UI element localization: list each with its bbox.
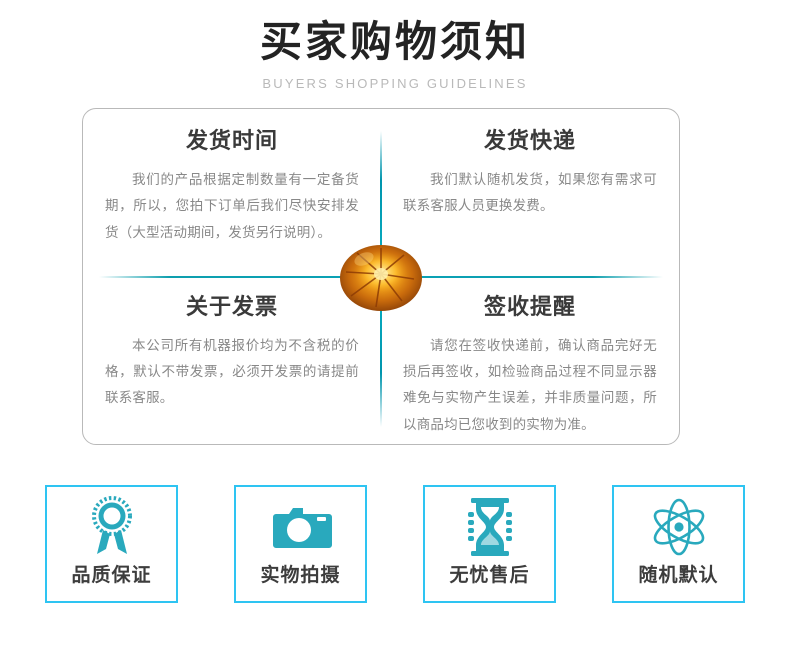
amber-gem-icon	[338, 241, 424, 313]
feature-label: 实物拍摄	[260, 560, 340, 587]
feature-box-quality-guarantee[interactable]: 品质保证	[45, 485, 178, 603]
feature-box-worry-free-service[interactable]: 无忧售后	[423, 485, 556, 603]
page-header: 买家购物须知 BUYERS SHOPPING GUIDELINES	[0, 0, 790, 91]
quadrant-title: 签收提醒	[403, 289, 657, 321]
quadrant-body: 我们的产品根据定制数量有一定备货期，所以，您拍下订单后我们尽快安排发货（大型活动…	[105, 167, 359, 246]
quadrant-body: 我们默认随机发货，如果您有需求可联系客服人员更换发费。	[403, 167, 657, 220]
horizontal-divider-right	[413, 276, 663, 278]
feature-box-row: 品质保证 实物拍摄	[45, 485, 745, 603]
feature-label: 品质保证	[71, 560, 151, 587]
quadrant-title: 发货快递	[403, 123, 657, 155]
horizontal-divider-left	[99, 276, 349, 278]
feature-label: 随机默认	[638, 560, 718, 587]
quadrant-shipping-time: 发货时间 我们的产品根据定制数量有一定备货期，所以，您拍下订单后我们尽快安排发货…	[83, 109, 381, 275]
feature-box-random-default[interactable]: 随机默认	[612, 485, 745, 603]
camera-icon	[270, 496, 332, 558]
feature-box-real-photos[interactable]: 实物拍摄	[234, 485, 367, 603]
award-ribbon-icon	[84, 496, 140, 558]
quadrant-title: 关于发票	[105, 289, 359, 321]
page-title: 买家购物须知	[0, 18, 790, 66]
quadrant-receipt-reminder: 签收提醒 请您在签收快递前，确认商品完好无损后再签收，如检验商品过程不同显示器难…	[381, 275, 679, 444]
quadrant-about-invoice: 关于发票 本公司所有机器报价均为不含税的价格，默认不带发票，必须开发票的请提前联…	[83, 275, 381, 444]
page-subtitle: BUYERS SHOPPING GUIDELINES	[0, 76, 790, 91]
feature-label: 无忧售后	[449, 560, 529, 587]
guidelines-panel: 发货时间 我们的产品根据定制数量有一定备货期，所以，您拍下订单后我们尽快安排发货…	[82, 108, 680, 445]
atom-icon	[648, 496, 710, 558]
quadrant-title: 发货时间	[105, 123, 359, 155]
quadrant-body: 请您在签收快递前，确认商品完好无损后再签收，如检验商品过程不同显示器难免与实物产…	[403, 333, 657, 438]
quadrant-body: 本公司所有机器报价均为不含税的价格，默认不带发票，必须开发票的请提前联系客服。	[105, 333, 359, 412]
hourglass-icon	[463, 496, 517, 558]
quadrant-shipping-courier: 发货快递 我们默认随机发货，如果您有需求可联系客服人员更换发费。	[381, 109, 679, 275]
